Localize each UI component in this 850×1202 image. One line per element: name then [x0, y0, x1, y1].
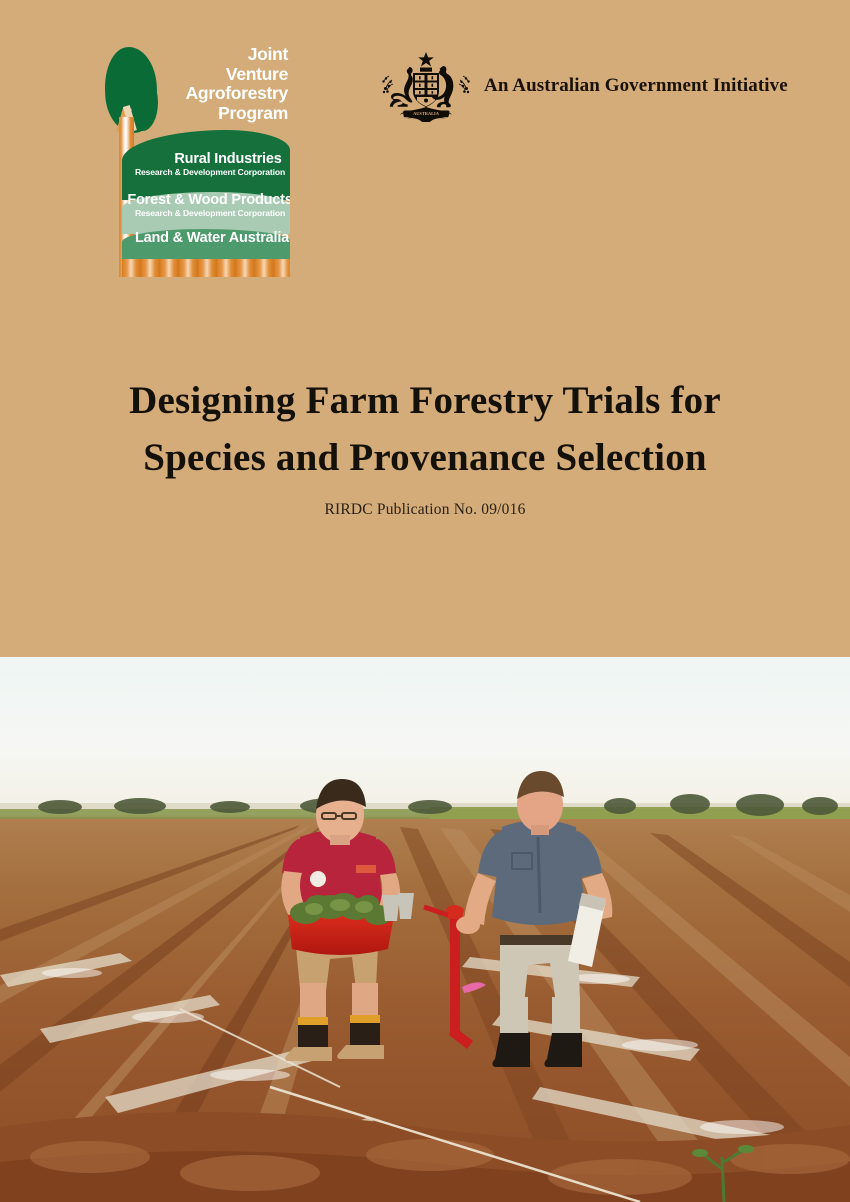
- title-line-2: Species and Provenance Selection: [0, 429, 850, 486]
- publication-number: RIRDC Publication No. 09/016: [0, 501, 850, 519]
- partner-1-name: Rural Industries: [122, 151, 290, 167]
- document-cover-page: Joint Venture Agroforestry Program Rural…: [0, 0, 850, 1202]
- band-base-stripe: [122, 259, 290, 277]
- partner-2-name: Forest & Wood Products: [122, 192, 290, 208]
- jvap-logo: Joint Venture Agroforestry Program Rural…: [100, 45, 290, 277]
- government-initiative-block: AUSTRALIA An Australian Government Initi…: [378, 50, 788, 122]
- title-block: Designing Farm Forestry Trials for Speci…: [0, 372, 850, 519]
- partner-2-subtitle: Research & Development Corporation: [122, 208, 290, 218]
- title-line-1: Designing Farm Forestry Trials for: [0, 372, 850, 429]
- program-name: Joint Venture Agroforestry Program: [158, 45, 288, 123]
- partner-3-name: Land & Water Australia: [122, 230, 290, 246]
- partner-1-subtitle: Research & Development Corporation: [122, 167, 290, 177]
- cover-photograph: [0, 657, 850, 1202]
- government-initiative-text: An Australian Government Initiative: [484, 75, 788, 97]
- program-name-line-3: Agroforestry: [158, 84, 288, 104]
- australian-coat-of-arms-icon: AUSTRALIA: [378, 50, 474, 122]
- program-name-line-2: Venture: [158, 65, 288, 85]
- program-name-line-4: Program: [158, 104, 288, 124]
- page-title: Designing Farm Forestry Trials for Speci…: [0, 372, 850, 486]
- svg-text:AUSTRALIA: AUSTRALIA: [413, 111, 440, 116]
- program-name-line-1: Joint: [158, 45, 288, 65]
- partner-panel: Rural Industries Research & Development …: [122, 130, 290, 277]
